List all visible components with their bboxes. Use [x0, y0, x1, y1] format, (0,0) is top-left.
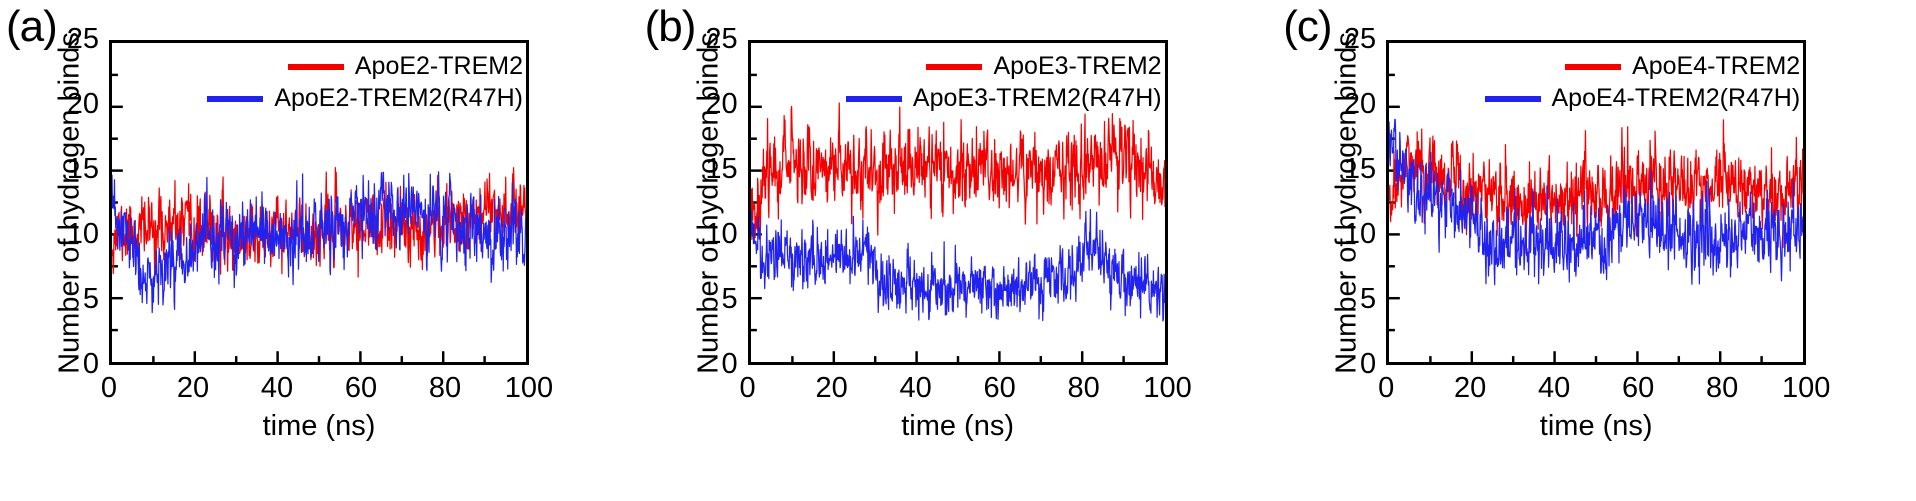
legend-swatch-mutant: [207, 96, 263, 102]
legend-label: ApoE2-TREM2(R47H): [274, 86, 523, 111]
legend-label: ApoE3-TREM2(R47H): [913, 86, 1162, 111]
y-axis-label: Number of hydrogen binds: [54, 3, 87, 403]
legend-label: ApoE3-TREM2: [993, 54, 1161, 79]
y-axis-label: Number of hydrogen binds: [1331, 3, 1364, 403]
legend-item: ApoE4-TREM2(R47H): [1485, 86, 1801, 111]
x-tick-label: 40: [886, 374, 946, 403]
y-tick-label: 20: [53, 90, 99, 119]
y-tick-label: 5: [692, 285, 738, 314]
panel-b: (b) Number of hydrogen binds time (ns) A…: [639, 0, 1278, 501]
y-tick-label: 20: [1330, 90, 1376, 119]
y-tick-label: 20: [692, 90, 738, 119]
x-tick-label: 80: [415, 374, 475, 403]
x-tick-label: 80: [1054, 374, 1114, 403]
y-tick-label: 10: [692, 220, 738, 249]
x-tick-label: 100: [1138, 374, 1198, 403]
x-tick-label: 100: [499, 374, 559, 403]
series-trace: [751, 210, 1165, 321]
x-tick-label: 60: [1608, 374, 1668, 403]
y-tick-label: 25: [1330, 25, 1376, 54]
series-trace: [112, 172, 526, 313]
y-tick-label: 10: [1330, 220, 1376, 249]
panel-c: (c) Number of hydrogen binds time (ns) A…: [1277, 0, 1916, 501]
x-tick-label: 20: [163, 374, 223, 403]
y-tick-label: 10: [53, 220, 99, 249]
x-tick-label: 40: [247, 374, 307, 403]
x-tick-label: 20: [1440, 374, 1500, 403]
y-tick-label: 15: [692, 155, 738, 184]
y-tick-label: 15: [53, 155, 99, 184]
x-tick-label: 20: [802, 374, 862, 403]
x-tick-label: 40: [1524, 374, 1584, 403]
x-tick-label: 60: [331, 374, 391, 403]
x-axis-label: time (ns): [1386, 410, 1806, 443]
legend-item: ApoE2-TREM2(R47H): [207, 86, 523, 111]
y-tick-label: 25: [53, 25, 99, 54]
legend-item: ApoE2-TREM2: [288, 54, 523, 79]
x-axis-label: time (ns): [109, 410, 529, 443]
legend-c: ApoE4-TREM2 ApoE4-TREM2(R47H): [1470, 54, 1800, 111]
panel-letter-b: (b): [645, 2, 696, 52]
legend-a: ApoE2-TREM2 ApoE2-TREM2(R47H): [193, 54, 523, 111]
legend-swatch-mutant: [1485, 96, 1541, 102]
y-tick-label: 5: [53, 285, 99, 314]
legend-label: ApoE4-TREM2: [1632, 54, 1800, 79]
y-tick-label: 5: [1330, 285, 1376, 314]
legend-item: ApoE3-TREM2(R47H): [846, 86, 1162, 111]
legend-swatch-wildtype: [926, 64, 982, 70]
x-tick-label: 60: [970, 374, 1030, 403]
y-tick-label: 25: [692, 25, 738, 54]
figure-root: (a) Number of hydrogen binds time (ns) A…: [0, 0, 1916, 501]
panel-a: (a) Number of hydrogen binds time (ns) A…: [0, 0, 639, 501]
x-tick-label: 80: [1692, 374, 1752, 403]
x-tick-label: 0: [718, 374, 778, 403]
legend-swatch-mutant: [846, 96, 902, 102]
legend-b: ApoE3-TREM2 ApoE3-TREM2(R47H): [832, 54, 1162, 111]
legend-item: ApoE4-TREM2: [1565, 54, 1800, 79]
panel-letter-a: (a): [6, 2, 57, 52]
y-axis-label: Number of hydrogen binds: [692, 3, 725, 403]
x-tick-label: 100: [1776, 374, 1836, 403]
y-tick-label: 15: [1330, 155, 1376, 184]
legend-label: ApoE4-TREM2(R47H): [1552, 86, 1801, 111]
x-axis-label: time (ns): [748, 410, 1168, 443]
x-tick-label: 0: [1356, 374, 1416, 403]
legend-swatch-wildtype: [288, 64, 344, 70]
panel-letter-c: (c): [1283, 2, 1331, 52]
legend-item: ApoE3-TREM2: [926, 54, 1161, 79]
legend-label: ApoE2-TREM2: [355, 54, 523, 79]
legend-swatch-wildtype: [1565, 64, 1621, 70]
x-tick-label: 0: [79, 374, 139, 403]
